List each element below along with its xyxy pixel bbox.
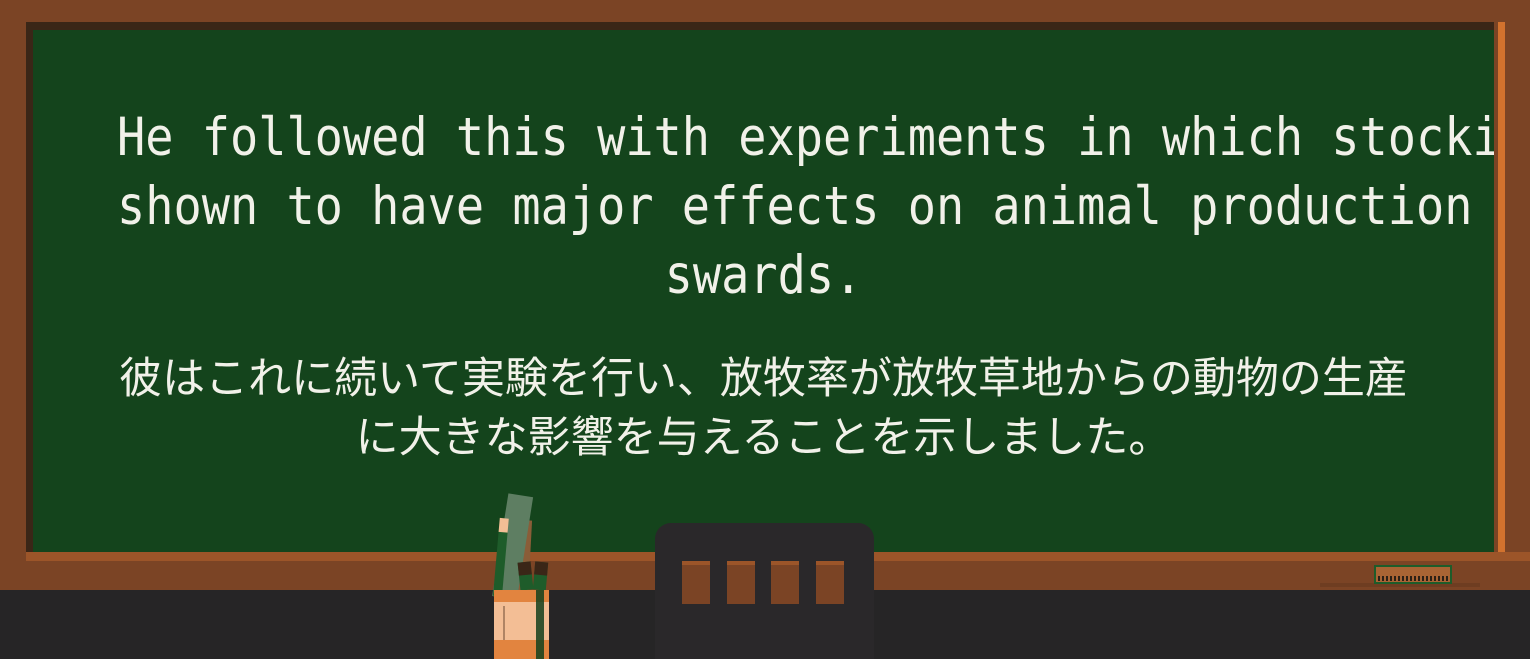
- chalk-ledge-left-cap: [0, 552, 26, 561]
- chalkboard-surface[interactable]: He followed this with experiments in whi…: [33, 30, 1494, 552]
- chair-slat-4: [816, 561, 844, 604]
- japanese-translation-block: 彼はこれに続いて実験を行い、放牧率が放牧草地からの動物の生産 に大きな影響を与え…: [33, 350, 1494, 468]
- english-line-1: He followed this with experiments in whi…: [117, 103, 1410, 172]
- pencil-cup: [494, 590, 549, 659]
- chair-slat-1: [682, 561, 710, 604]
- chalkboard-scene: He followed this with experiments in whi…: [0, 0, 1530, 659]
- marker-2: [533, 561, 548, 590]
- english-line-3: swards.: [117, 241, 1410, 310]
- marker-1-cap: [518, 561, 532, 575]
- pencil-cup-highlight: [503, 606, 505, 640]
- chair-back-silhouette: [655, 523, 874, 659]
- english-sentence-block: He followed this with experiments in whi…: [33, 103, 1494, 310]
- marker-1: [518, 561, 534, 590]
- japanese-line-2: に大きな影響を与えることを示しました。: [33, 409, 1494, 468]
- green-pen-tip: [499, 518, 509, 533]
- pencil-cup-rib: [536, 590, 544, 659]
- chalk-duster: [1374, 565, 1452, 584]
- board-text-layer: He followed this with experiments in whi…: [33, 30, 1494, 552]
- chair-slat-2: [727, 561, 755, 604]
- chair-slat-3: [771, 561, 799, 604]
- frame-right-top-cap: [1498, 0, 1505, 22]
- duster-felt: [1378, 576, 1448, 581]
- marker-2-cap: [534, 561, 548, 575]
- english-line-2: shown to have major effects on animal pr…: [117, 172, 1410, 241]
- frame-right-highlight: [1498, 0, 1505, 590]
- japanese-line-1: 彼はこれに続いて実験を行い、放牧率が放牧草地からの動物の生産: [33, 350, 1494, 409]
